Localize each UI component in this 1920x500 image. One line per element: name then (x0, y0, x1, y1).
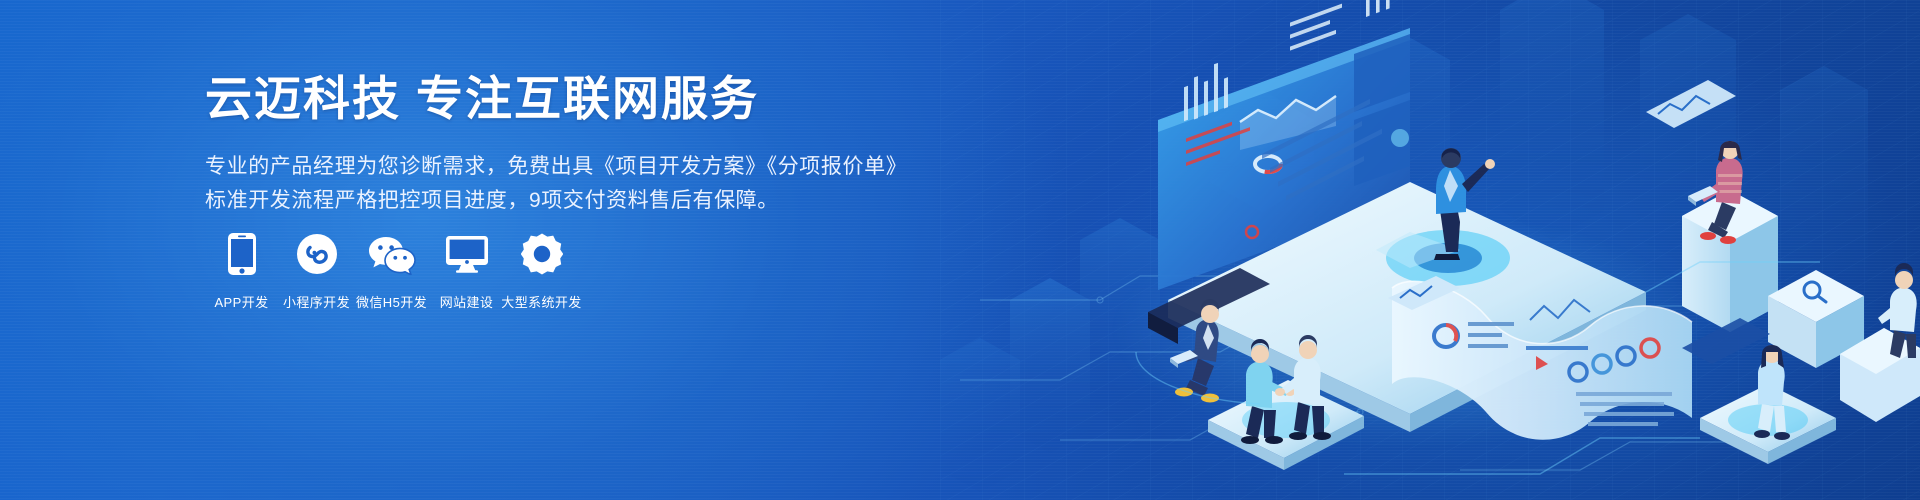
wechat-icon (368, 232, 416, 276)
service-label: 网站建设 (440, 292, 494, 311)
illustration-isometric-tech-teamwork (940, 0, 1920, 500)
service-item-wechat-h5[interactable]: 微信H5开发 (355, 232, 428, 311)
service-item-large-system[interactable]: 大型系统开发 (505, 232, 578, 311)
subtitle-line-2: 标准开发流程严格把控项目进度，9项交付资料售后有保障。 (205, 184, 905, 218)
mini-program-icon (296, 232, 338, 276)
gear-icon (521, 232, 563, 276)
service-label: 小程序开发 (283, 292, 350, 311)
monitor-icon (445, 232, 489, 276)
service-label: 微信H5开发 (356, 292, 427, 311)
page-title: 云迈科技 专注互联网服务 (205, 72, 905, 126)
service-item-mini-program[interactable]: 小程序开发 (280, 232, 353, 311)
service-item-website[interactable]: 网站建设 (430, 232, 503, 311)
mobile-phone-icon (227, 232, 257, 276)
subtitle-line-1: 专业的产品经理为您诊断需求，免费出具《项目开发方案》《分项报价单》 (205, 150, 905, 184)
hero-copy: 云迈科技 专注互联网服务 专业的产品经理为您诊断需求，免费出具《项目开发方案》《… (205, 72, 905, 218)
service-label: 大型系统开发 (501, 292, 581, 311)
service-label: APP开发 (214, 292, 268, 311)
service-item-app[interactable]: APP开发 (205, 232, 278, 311)
hero-subtitle: 专业的产品经理为您诊断需求，免费出具《项目开发方案》《分项报价单》 标准开发流程… (205, 150, 905, 218)
hero-banner: 云迈科技 专注互联网服务 专业的产品经理为您诊断需求，免费出具《项目开发方案》《… (0, 0, 1920, 500)
service-list: APP开发 小程序开发 (205, 232, 580, 311)
